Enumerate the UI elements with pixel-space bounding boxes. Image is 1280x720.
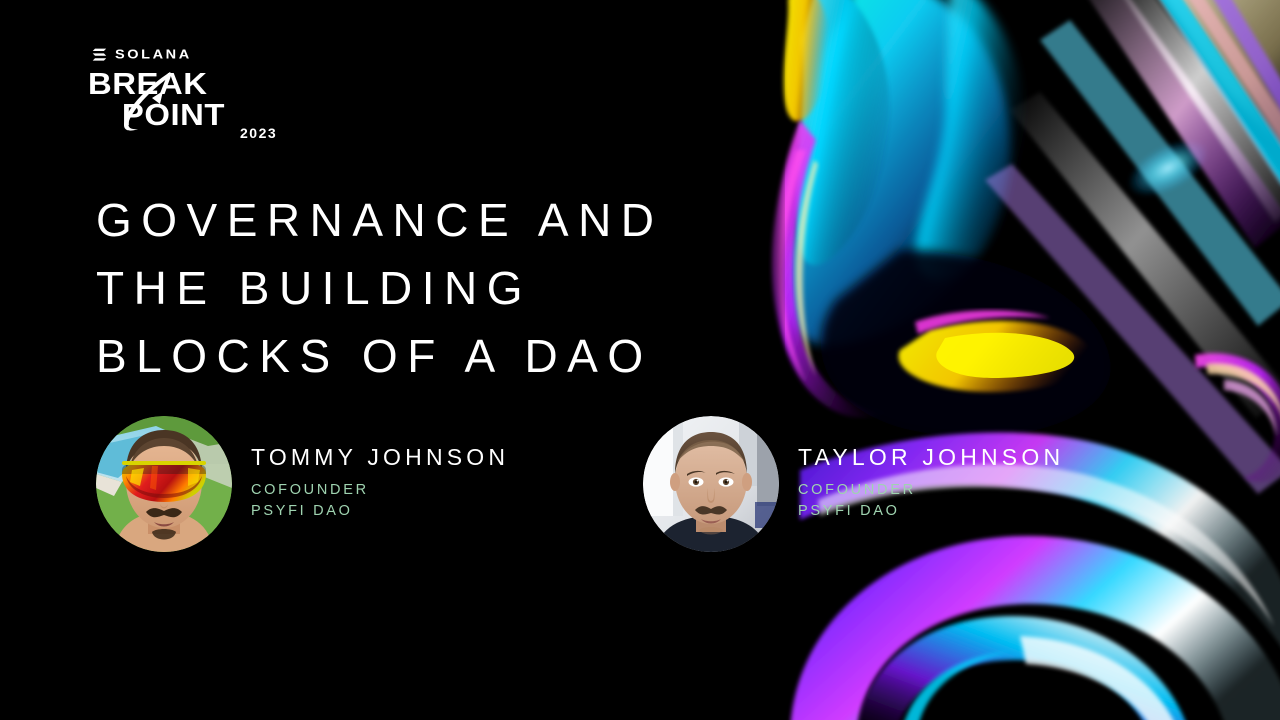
solana-logo-mark [92, 48, 107, 62]
speaker-meta: TAYLOR JOHNSON COFOUNDER PSYFI DAO [798, 443, 1064, 526]
speaker-name: TOMMY JOHNSON [251, 443, 509, 471]
breakpoint-logo: SOLANA .bpw { fill:#ffffff; font-family:… [88, 46, 318, 146]
speaker-org: PSYFI DAO [798, 501, 1064, 522]
speaker-card-tommy-johnson: TOMMY JOHNSON COFOUNDER PSYFI DAO [96, 416, 509, 552]
page-title: GOVERNANCE AND THE BUILDING BLOCKS OF A … [96, 186, 796, 390]
solana-wordmark: SOLANA [115, 48, 192, 61]
speaker-role: COFOUNDER [251, 480, 509, 501]
speaker-card-taylor-johnson: TAYLOR JOHNSON COFOUNDER PSYFI DAO [643, 416, 1064, 552]
solana-brand-row: SOLANA [92, 46, 318, 64]
presentation-slide: SOLANA .bpw { fill:#ffffff; font-family:… [0, 0, 1280, 720]
breakpoint-wordmark: .bpw { fill:#ffffff; font-family:"Libera… [88, 68, 288, 140]
title-line-2: THE BUILDING [96, 254, 796, 322]
title-line-3: BLOCKS OF A DAO [96, 322, 796, 390]
avatar-taylor-johnson [643, 416, 779, 552]
logo-year: 2023 [240, 125, 277, 140]
avatar-tommy-johnson [96, 416, 232, 552]
speaker-meta: TOMMY JOHNSON COFOUNDER PSYFI DAO [251, 443, 509, 526]
speaker-org: PSYFI DAO [251, 501, 509, 522]
speaker-role: COFOUNDER [798, 480, 1064, 501]
speaker-name: TAYLOR JOHNSON [798, 443, 1064, 471]
speakers-list: TOMMY JOHNSON COFOUNDER PSYFI DAO [96, 416, 1096, 556]
title-line-1: GOVERNANCE AND [96, 186, 796, 254]
